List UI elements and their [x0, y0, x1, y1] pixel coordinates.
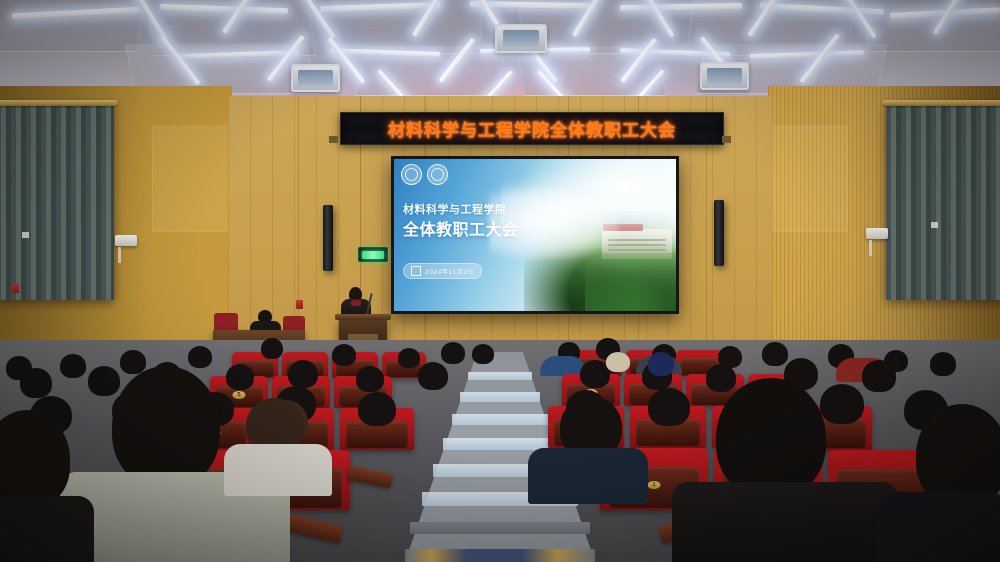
audience-head — [60, 354, 86, 378]
seat-number: 5 — [233, 391, 246, 399]
audience-head — [120, 350, 146, 374]
column-speaker-left — [323, 205, 333, 271]
projection-screen: 材料科学与工程学院 全体教职工大会 2024年11月2日 — [394, 159, 676, 311]
audience-head — [648, 388, 690, 426]
audience-head — [472, 344, 494, 364]
audience-head — [762, 342, 788, 366]
exit-sign-glow — [362, 251, 384, 259]
wall-marker-right — [931, 222, 938, 228]
university-seal-icon — [427, 164, 448, 185]
aisle-floor-stripe — [405, 549, 595, 562]
audience-head — [261, 338, 283, 359]
curtain-rod-left — [0, 100, 118, 106]
curtain-left — [0, 104, 114, 300]
podium-top — [335, 314, 391, 320]
audience-head — [706, 364, 736, 392]
slide-logos — [401, 164, 448, 185]
curtain-rod-right — [882, 100, 1000, 106]
fire-alarm-front[interactable] — [296, 300, 303, 309]
audience-head — [930, 352, 956, 376]
near-shoulders-ponytail — [224, 444, 332, 496]
foreground-head-far-right — [916, 404, 1000, 506]
foreground-shoulders-far-left — [0, 496, 94, 562]
banner-mount-right — [722, 136, 731, 143]
auditorium-photo: 材料科学与工程学院全体教职工大会 材料科学与工程学院 全体教职工大会 2024年… — [0, 0, 1000, 562]
led-banner: 材料科学与工程学院全体教职工大会 — [340, 112, 724, 145]
audience-head-with-hat — [648, 352, 674, 376]
ceiling-ac-unit — [495, 24, 547, 53]
slide-date-pill: 2024年11月2日 — [403, 263, 482, 279]
ceiling-ac-unit — [700, 62, 749, 90]
presenter-scarf — [351, 300, 361, 306]
aisle-step — [452, 414, 548, 425]
wall-panel-patch-left — [152, 126, 234, 232]
emergency-exit-sign — [358, 247, 388, 262]
audience-head — [88, 366, 120, 396]
audience-head — [418, 362, 448, 390]
audience-head — [358, 392, 396, 426]
fire-alarm-left[interactable] — [12, 284, 19, 293]
projection-screen-frame: 材料科学与工程学院 全体教职工大会 2024年11月2日 — [391, 156, 679, 314]
aisle-step — [460, 392, 540, 402]
foreground-head-left — [112, 366, 220, 488]
audience-head-with-hat — [606, 352, 630, 372]
wall-mounted-device-right — [866, 228, 888, 239]
wall-marker-left — [22, 232, 29, 238]
column-speaker-right — [714, 200, 724, 266]
audience-head — [441, 342, 465, 364]
curtain-right — [886, 104, 1000, 300]
audience-head — [226, 364, 254, 390]
university-seal-icon — [401, 164, 422, 185]
audience-head — [288, 360, 318, 388]
seat-number: 1 — [648, 481, 661, 489]
ceiling-ac-unit — [291, 64, 340, 92]
foreground-head-right — [716, 378, 826, 498]
aisle-step — [468, 372, 532, 380]
foreground-shoulders-far-right — [876, 492, 1000, 562]
near-shoulders-center-right — [528, 448, 648, 504]
slide-trees — [585, 253, 676, 311]
audience-head — [862, 360, 896, 392]
banner-mount-left — [329, 136, 338, 143]
calendar-icon — [411, 266, 421, 276]
audience-head — [188, 346, 212, 368]
audience-head — [356, 366, 384, 392]
slide-date-text: 2024年11月2日 — [425, 267, 474, 276]
audience-head — [398, 348, 420, 368]
slide-glare — [489, 187, 619, 259]
foreground-shoulders-right — [672, 482, 898, 562]
audience-head — [20, 368, 52, 398]
aisle-step-shadow — [410, 522, 590, 534]
wall-mounted-device-left — [115, 235, 137, 246]
audience-head — [820, 384, 864, 424]
audience-head — [332, 344, 356, 366]
led-banner-text: 材料科学与工程学院全体教职工大会 — [388, 116, 676, 141]
